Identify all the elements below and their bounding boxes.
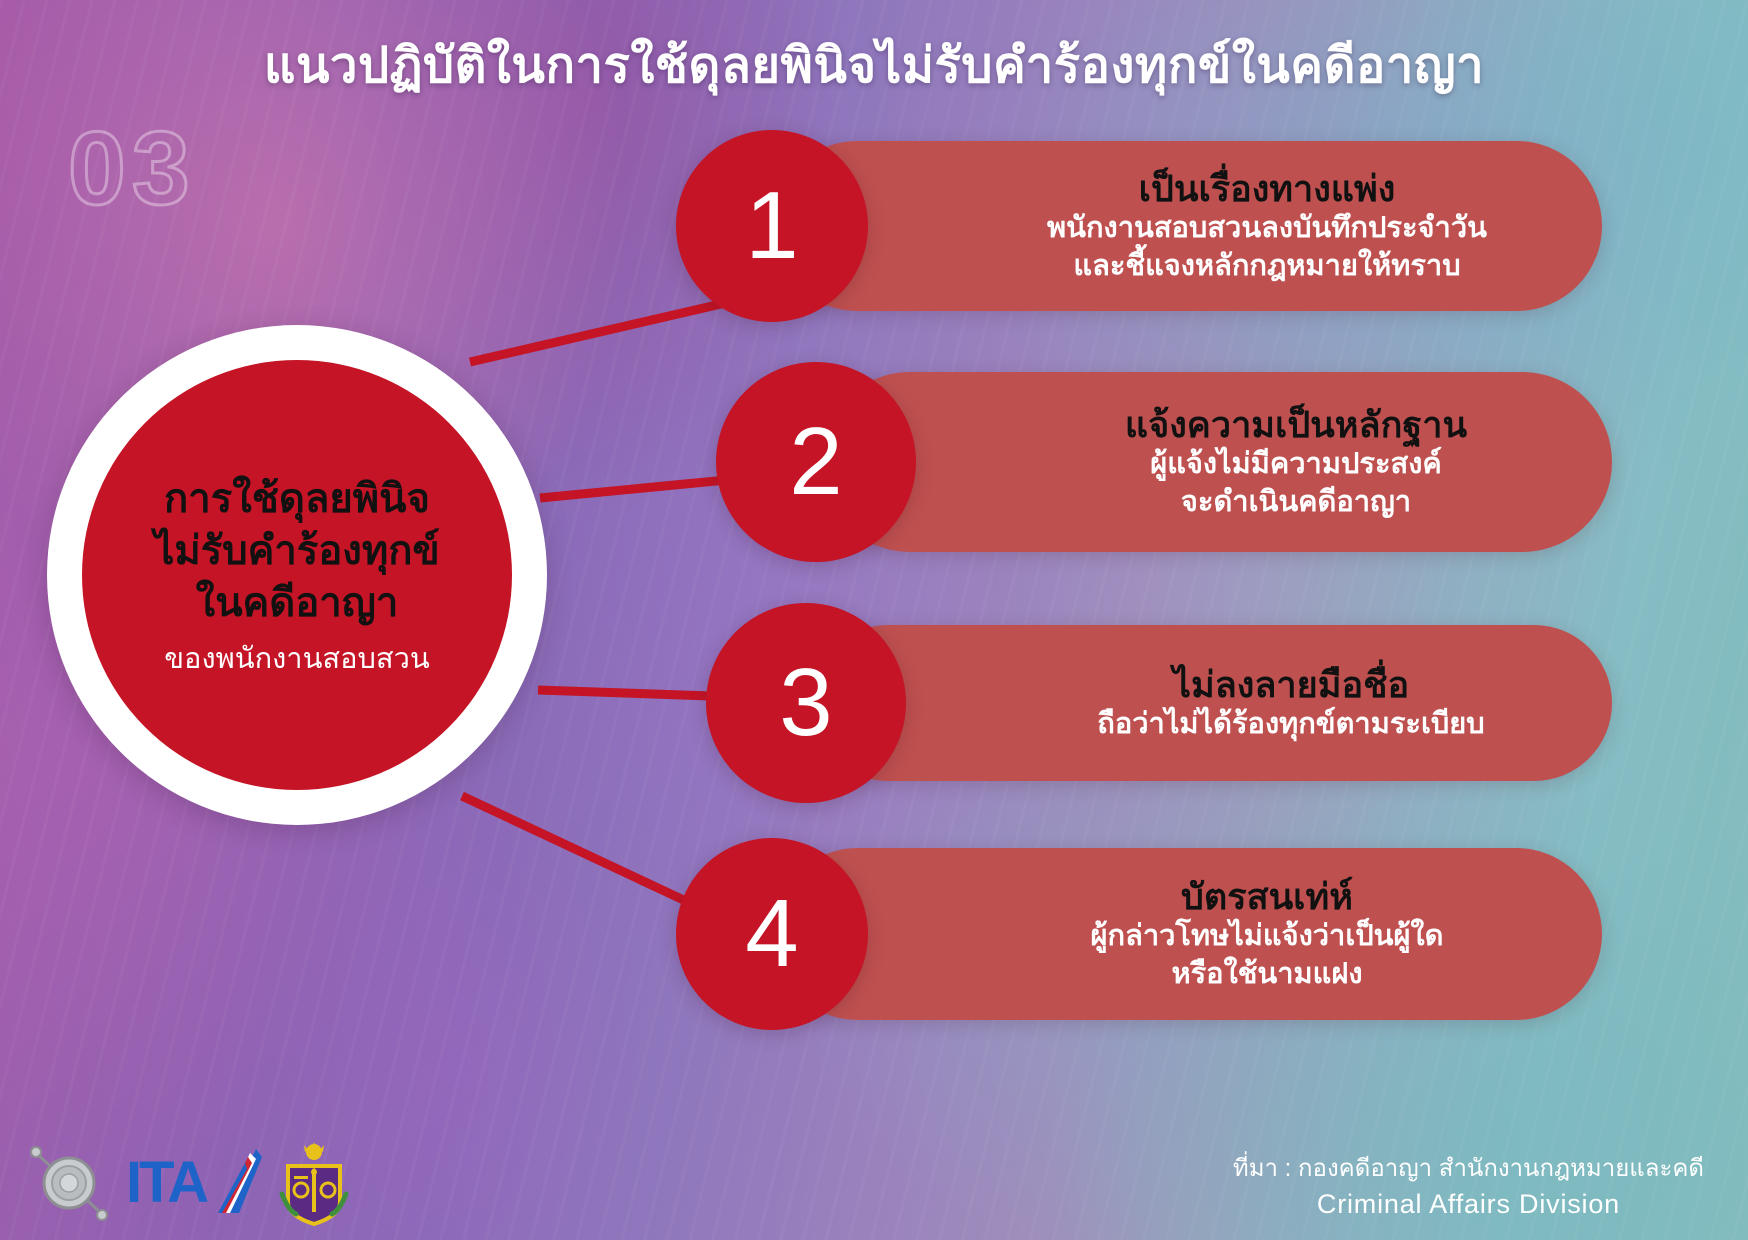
item-body-line: และชี้แจงหลักกฎหมายให้ทราบ bbox=[1073, 248, 1460, 285]
item-body-line: พนักงานสอบสวนลงบันทึกประจำวัน bbox=[1047, 210, 1487, 247]
central-hub-inner: การใช้ดุลยพินิจ ไม่รับคำร้องทุกข์ ในคดีอ… bbox=[82, 360, 512, 790]
royal-emblem-icon bbox=[276, 1140, 352, 1226]
item-body-line: ผู้กล่าวโทษไม่แจ้งว่าเป็นผู้ใด bbox=[1091, 918, 1444, 955]
source-credit: ที่มา : กองคดีอาญา สำนักงานกฎหมายและคดี … bbox=[1233, 1153, 1704, 1222]
item-body-line: ถือว่าไม่ได้ร้องทุกข์ตามระเบียบ bbox=[1097, 706, 1484, 743]
list-item: 2 แจ้งความเป็นหลักฐาน ผู้แจ้งไม่มีความปร… bbox=[716, 362, 1612, 562]
page-title: แนวปฏิบัติในการใช้ดุลยพินิจไม่รับคำร้องท… bbox=[0, 26, 1748, 104]
hub-subtitle: ของพนักงานสอบสวน bbox=[164, 641, 430, 677]
item-pill: บัตรสนเท่ห์ ผู้กล่าวโทษไม่แจ้งว่าเป็นผู้… bbox=[772, 848, 1602, 1020]
item-body-line: จะดำเนินคดีอาญา bbox=[1181, 484, 1411, 521]
hub-title-line-1: การใช้ดุลยพินิจ bbox=[154, 473, 440, 525]
thai-flag-swoosh-icon bbox=[206, 1147, 262, 1219]
ita-logo: ITA bbox=[126, 1147, 262, 1219]
source-credit-english: Criminal Affairs Division bbox=[1233, 1186, 1704, 1222]
item-heading: บัตรสนเท่ห์ bbox=[1181, 875, 1353, 918]
list-item: 1 เป็นเรื่องทางแพ่ง พนักงานสอบสวนลงบันทึ… bbox=[676, 130, 1602, 322]
police-seal-icon bbox=[26, 1140, 112, 1226]
item-number-badge: 4 bbox=[676, 838, 868, 1030]
ita-logo-text: ITA bbox=[126, 1154, 206, 1212]
list-item: 4 บัตรสนเท่ห์ ผู้กล่าวโทษไม่แจ้งว่าเป็นผ… bbox=[676, 838, 1602, 1030]
item-number-badge: 3 bbox=[706, 603, 906, 803]
item-body-line: ผู้แจ้งไม่มีความประสงค์ bbox=[1150, 446, 1442, 483]
item-pill: แจ้งความเป็นหลักฐาน ผู้แจ้งไม่มีความประส… bbox=[820, 372, 1612, 552]
list-item: 3 ไม่ลงลายมือชื่อ ถือว่าไม่ได้ร้องทุกข์ต… bbox=[706, 603, 1612, 803]
item-number-badge: 2 bbox=[716, 362, 916, 562]
item-pill: ไม่ลงลายมือชื่อ ถือว่าไม่ได้ร้องทุกข์ตาม… bbox=[810, 625, 1612, 781]
item-number-badge: 1 bbox=[676, 130, 868, 322]
item-heading: ไม่ลงลายมือชื่อ bbox=[1173, 663, 1409, 706]
footer-logos: ITA bbox=[26, 1140, 352, 1226]
item-pill: เป็นเรื่องทางแพ่ง พนักงานสอบสวนลงบันทึกป… bbox=[772, 141, 1602, 311]
hub-title-line-2: ไม่รับคำร้องทุกข์ bbox=[154, 525, 440, 577]
item-heading: แจ้งความเป็นหลักฐาน bbox=[1125, 403, 1467, 446]
item-heading: เป็นเรื่องทางแพ่ง bbox=[1139, 167, 1396, 210]
hub-title: การใช้ดุลยพินิจ ไม่รับคำร้องทุกข์ ในคดีอ… bbox=[154, 473, 440, 629]
hub-title-line-3: ในคดีอาญา bbox=[154, 577, 440, 629]
central-hub-circle: การใช้ดุลยพินิจ ไม่รับคำร้องทุกข์ ในคดีอ… bbox=[47, 325, 547, 825]
source-credit-thai: ที่มา : กองคดีอาญา สำนักงานกฎหมายและคดี bbox=[1233, 1153, 1704, 1185]
item-body-line: หรือใช้นามแฝง bbox=[1171, 956, 1362, 993]
